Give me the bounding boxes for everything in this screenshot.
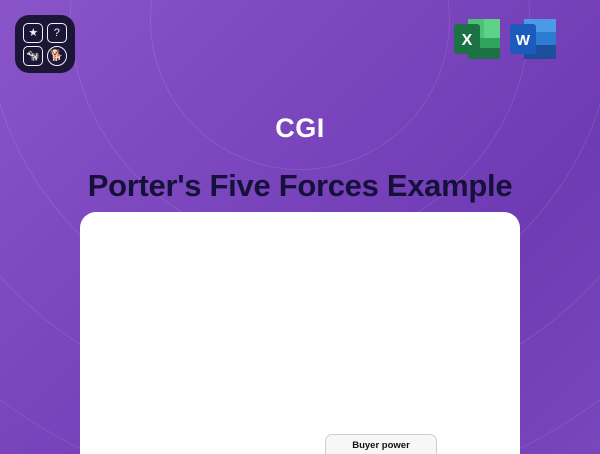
slide-canvas: ★ ? 🐄 🐕 X W CGI Porter's Five Forces Exa… [0,0,600,454]
page-title: Porter's Five Forces Example [0,168,600,204]
app-logo[interactable]: ★ ? 🐄 🐕 [15,15,75,73]
diagram-card: ⚖ ⚯ ↻ Buyer power High demand for eco-fr… [80,212,520,454]
force-title-buyer: Buyer power [333,440,429,451]
force-box-buyer[interactable]: Buyer power High demand for eco-friendly… [325,434,437,454]
question-mark-icon: ? [47,23,67,43]
dog-icon: 🐕 [47,46,67,66]
decorative-arc [150,0,450,170]
star-icon: ★ [23,23,43,43]
cow-icon: 🐄 [23,46,43,66]
brand-title: CGI [0,113,600,144]
excel-icon[interactable]: X [452,16,502,62]
word-icon[interactable]: W [508,16,558,62]
svg-text:X: X [462,32,473,49]
svg-text:W: W [516,32,531,49]
